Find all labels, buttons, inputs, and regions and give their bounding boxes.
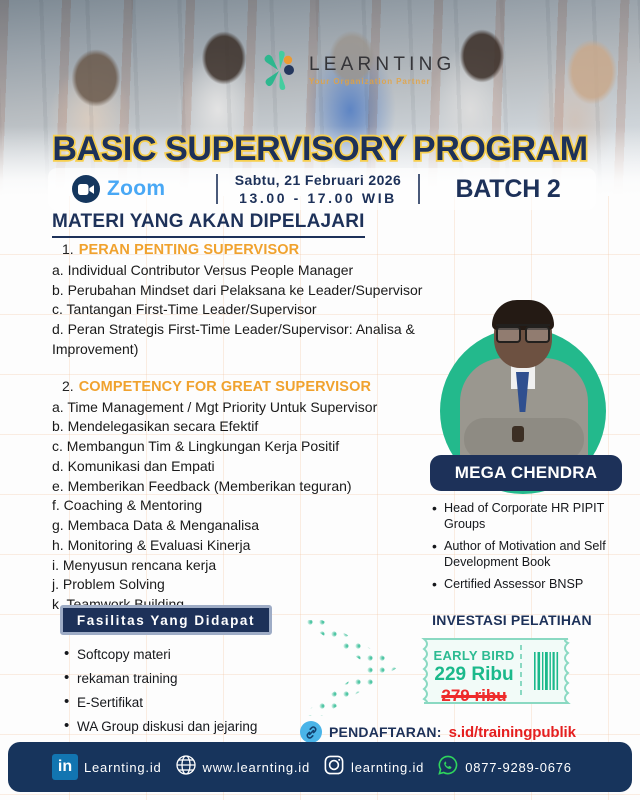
event-date: Sabtu, 21 Februari 2026 [235,172,401,188]
list-item: Author of Motivation and Self Developmen… [430,538,626,571]
section-name-2: COMPETENCY FOR GREAT SUPERVISOR [79,379,371,395]
list-item: Head of Corporate HR PIPIT Groups [430,500,626,533]
early-bird-badge: EARLY BIRD [428,648,520,663]
brand-logo: LEARNTING Your Organization Partner [258,48,456,92]
speaker-crossed-arms [464,418,584,460]
list-item: c. Tantangan First-Time Leader/Superviso… [52,300,444,320]
footer-linkedin-label: Learnting.id [84,760,162,775]
list-item: h. Monitoring & Evaluasi Kinerja [52,536,444,556]
globe-icon [175,754,197,781]
section-number-1: 1. [52,241,74,257]
footer-instagram[interactable]: learnting.id [323,754,424,781]
list-item: E-Sertifikat [62,694,312,711]
list-item: b. Perubahan Mindset dari Pelaksana ke L… [52,281,444,301]
platform-label: Zoom [107,177,165,201]
section-name-1: PERAN PENTING SUPERVISOR [79,242,299,258]
list-item: d. Komunikasi dan Empati [52,457,444,477]
syllabus-section-title-1: 1. PERAN PENTING SUPERVISOR [52,241,444,258]
divider-2 [418,174,420,204]
zoom-video-icon [72,175,100,203]
list-item: i. Menyusun rencana kerja [52,556,444,576]
linkedin-icon: in [52,754,78,780]
speaker-credentials: Head of Corporate HR PIPIT Groups Author… [430,500,626,597]
footer-whatsapp[interactable]: 0877-9289-0676 [437,754,572,781]
event-info-strip: Zoom Sabtu, 21 Februari 2026 13.00 - 17.… [48,168,596,210]
list-item: e. Memberikan Feedback (Memberikan tegur… [52,477,444,497]
facilities-heading: Fasilitas Yang Didapat [60,605,272,635]
ticket-old-price: 279 ribu [428,686,520,706]
divider-1 [216,174,218,204]
section-items-1: a. Individual Contributor Versus People … [52,261,444,360]
list-item: WA Group diskusi dan jejaring [62,718,312,735]
footer-whatsapp-label: 0877-9289-0676 [465,760,572,775]
section-spacer [52,360,444,378]
list-item: Certified Assessor BNSP [430,576,626,592]
list-item: a. Individual Contributor Versus People … [52,261,444,281]
syllabus-heading: MATERI YANG AKAN DIPELAJARI [52,211,365,238]
speaker-name-badge: MEGA CHENDRA [430,455,622,491]
registration-url[interactable]: s.id/trainingpublik [449,724,576,741]
ticket-price: 229 Ribu [428,664,520,686]
platform-block: Zoom [48,175,216,203]
list-item: a. Time Management / Mgt Priority Untuk … [52,398,444,418]
list-item: c. Membangun Tim & Lingkungan Kerja Posi… [52,437,444,457]
section-number-2: 2. [52,378,74,394]
syllabus-section-title-2: 2. COMPETENCY FOR GREAT SUPERVISOR [52,378,444,395]
speaker-glasses-icon [496,324,550,338]
footer-contact-bar: in Learnting.id www.learnting.id [8,742,632,792]
halftone-chevron-decoration [292,616,412,726]
list-item: d. Peran Strategis First-Time Leader/Sup… [52,320,444,359]
list-item: rekaman training [62,670,312,687]
list-item: Softcopy materi [62,646,312,663]
logo-tagline: Your Organization Partner [309,78,456,86]
footer-website-label: www.learnting.id [203,760,310,775]
syllabus-list: 1. PERAN PENTING SUPERVISOR a. Individua… [52,241,444,615]
training-flyer: LEARNTING Your Organization Partner BASI… [0,0,640,800]
registration-label: PENDAFTARAN: [329,724,442,740]
facilities-list: Softcopy materi rekaman training E-Serti… [62,646,312,742]
barcode-icon [534,652,558,690]
pinwheel-logo-icon [258,48,302,92]
list-item: b. Mendelegasikan secara Efektif [52,417,444,437]
event-time: 13.00 - 17.00 WIB [239,190,397,206]
registration-row[interactable]: PENDAFTARAN: s.id/trainingpublik [300,721,576,743]
logo-wordmark: LEARNTING [309,55,456,74]
footer-linkedin[interactable]: in Learnting.id [52,754,162,780]
batch-block: BATCH 2 [420,175,596,204]
speaker-watch [512,426,524,442]
link-chain-icon [300,721,322,743]
page-title: BASIC SUPERVISORY PROGRAM [0,130,640,169]
list-item: g. Membaca Data & Menganalisa [52,516,444,536]
section-items-2: a. Time Management / Mgt Priority Untuk … [52,398,444,615]
schedule-block: Sabtu, 21 Februari 2026 13.00 - 17.00 WI… [218,172,418,206]
instagram-icon [323,754,345,781]
footer-website[interactable]: www.learnting.id [175,754,310,781]
footer-instagram-label: learnting.id [351,760,424,775]
list-item: j. Problem Solving [52,575,444,595]
batch-label: BATCH 2 [455,175,560,203]
list-item: f. Coaching & Mentoring [52,496,444,516]
whatsapp-icon [437,754,459,781]
investment-heading: INVESTASI PELATIHAN [398,612,626,628]
